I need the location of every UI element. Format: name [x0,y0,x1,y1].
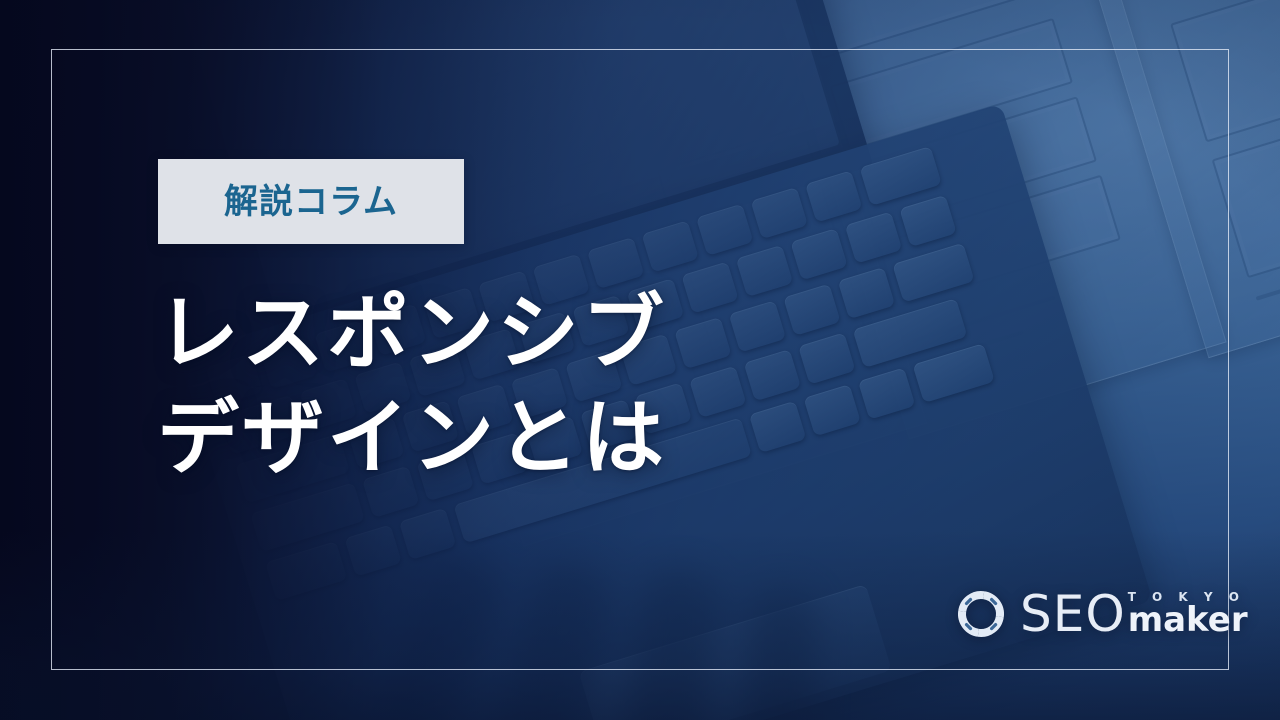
logo-primary-text: SEO [1020,591,1126,637]
banner-stage: 解説コラム レスポンシブ デザインとは [0,0,1280,720]
banner-content: 解説コラム レスポンシブ デザインとは [0,0,1280,720]
logo-secondary-text: maker [1128,606,1248,636]
logo-wordmark: SEO T O K Y O maker [1020,591,1248,637]
category-badge-label: 解説コラム [224,185,398,219]
page-title-line-1: レスポンシブ [157,282,667,387]
logo-text-stack: T O K Y O maker [1128,591,1248,637]
segmented-ring-icon [955,588,1007,640]
page-title-line-2: デザインとは [157,387,667,492]
seo-maker-tokyo-logo[interactable]: SEO T O K Y O maker [955,588,1248,640]
category-badge: 解説コラム [158,159,464,244]
page-title: レスポンシブ デザインとは [157,282,667,492]
